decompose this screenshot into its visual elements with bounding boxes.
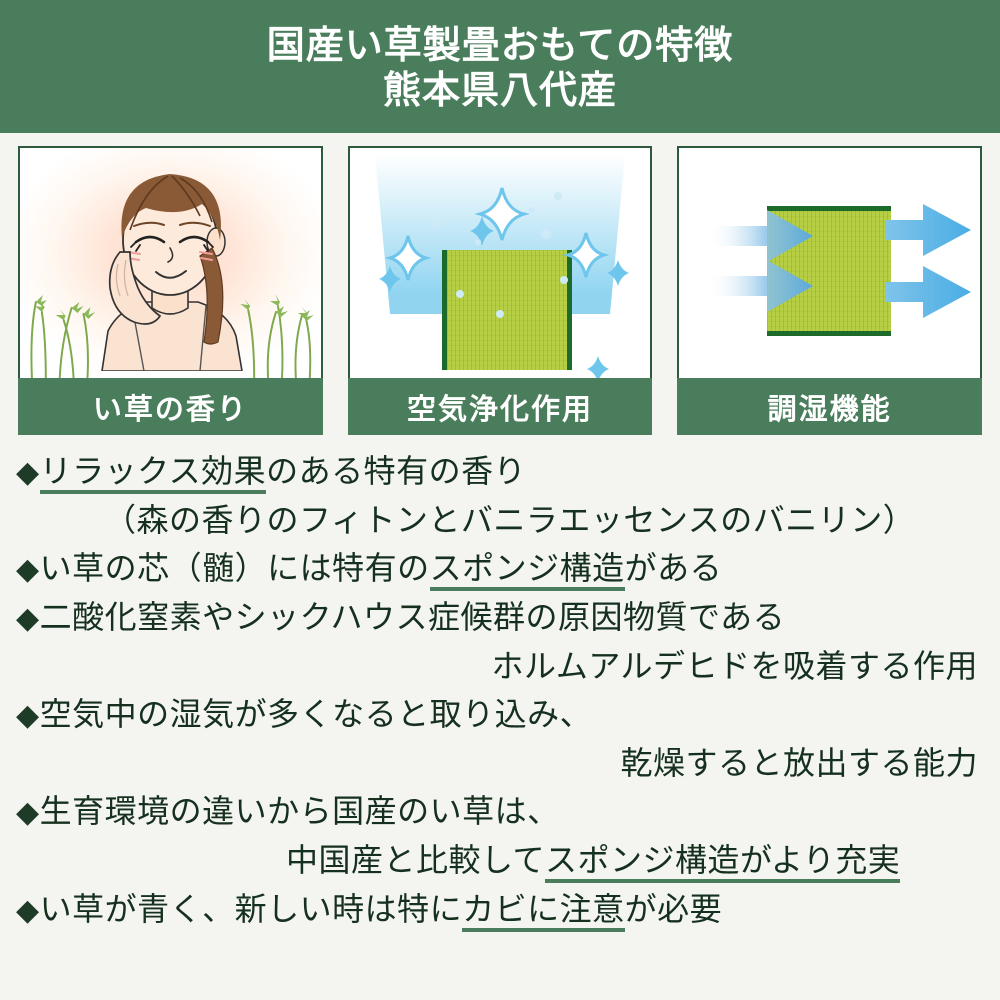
scent-illustration [18,146,323,378]
moisture-arrow-group [679,148,982,378]
bullet-text: 乾燥すると放出する能力 [620,745,978,781]
bullet-marker: ◆ [16,553,40,586]
humidity-illustration [677,146,982,378]
bullet-marker: ◆ [16,602,40,635]
bullet-marker: ◆ [16,894,40,927]
air-purification-illustration [348,146,653,378]
bullet-highlight: リラックス効果 [40,453,267,494]
feature-bullet-list: ◆リラックス効果のある特有の香り （森の香りのフィトンとバニラエッセンスのバニリ… [0,435,1000,933]
bullet-highlight: カビに注意 [462,891,625,932]
bullet-marker: ◆ [16,456,40,489]
bullet-highlight: スポンジ構造がより充実 [545,842,900,883]
feature-card-label-scent: い草の香り [18,378,323,435]
bullet-text: がある [625,550,723,586]
bullet-text: ホルムアルデヒドを吸着する作用 [491,648,978,684]
feature-card-row: い草の香り [0,133,1000,435]
bullet-line: ◆空気中の湿気が多くなると取り込み、 [16,690,984,739]
bullet-text: が必要 [625,891,723,927]
bullet-line: ◆い草が青く、新しい時は特にカビに注意が必要 [16,885,984,934]
bullet-text: 空気中の湿気が多くなると取り込み、 [40,696,593,732]
bullet-text: （森の香りのフィトンとバニラエッセンスのバニリン） [104,502,915,538]
feature-card-scent[interactable]: い草の香り [18,146,323,435]
bullet-marker: ◆ [16,796,40,829]
feature-card-label-air: 空気浄化作用 [348,378,653,435]
bullet-line: ホルムアルデヒドを吸着する作用 [16,642,984,691]
arrow-in-lower [707,260,813,312]
bullet-text: 二酸化窒素やシックハウス症候群の原因物質である [40,599,786,635]
arrow-in-upper [707,210,813,262]
bullet-text: い草の芯（髄）には特有の [40,550,430,586]
bullet-line: 中国産と比較してスポンジ構造がより充実 [16,836,984,885]
bullet-text: い草が青く、新しい時は特に [40,891,463,927]
bullet-highlight: スポンジ構造 [430,550,625,591]
infographic-page: 国産い草製畳おもての特徴 熊本県八代産 [0,0,1000,1000]
bullet-line: ◆二酸化窒素やシックハウス症候群の原因物質である [16,593,984,642]
bullet-line: 乾燥すると放出する能力 [16,739,984,788]
feature-card-humidity[interactable]: 調湿機能 [677,146,982,435]
bullet-marker: ◆ [16,699,40,732]
feature-card-label-humidity: 調湿機能 [677,378,982,435]
header-title-line1: 国産い草製畳おもての特徴 [267,23,733,68]
rush-grass-decoration [20,268,321,378]
page-header: 国産い草製畳おもての特徴 熊本県八代産 [0,0,1000,133]
feature-card-air-purification[interactable]: 空気浄化作用 [348,146,653,435]
arrow-out-upper [885,204,971,256]
bullet-text: のある特有の香り [266,453,526,489]
header-title-line2: 熊本県八代産 [383,68,617,113]
bullet-line: ◆い草の芯（髄）には特有のスポンジ構造がある [16,544,984,593]
bullet-line: ◆生育環境の違いから国産のい草は、 [16,787,984,836]
bullet-line: ◆リラックス効果のある特有の香り [16,447,984,496]
bullet-text: 生育環境の違いから国産のい草は、 [40,793,560,829]
bullet-line: （森の香りのフィトンとバニラエッセンスのバニリン） [16,496,984,545]
arrow-out-lower [885,266,971,318]
bullet-text: 中国産と比較して [286,842,545,878]
sparkle-group [350,148,653,378]
